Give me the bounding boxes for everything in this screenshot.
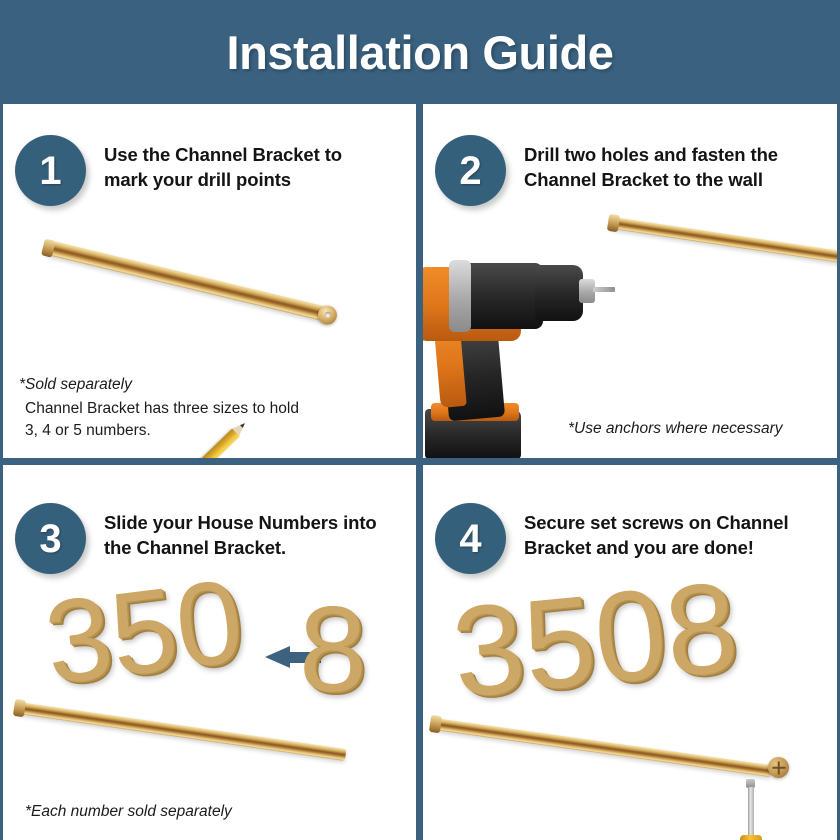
- drill-gearbox: [459, 263, 543, 329]
- house-number-group: 350: [40, 567, 249, 699]
- mounted-house-numbers: 3508: [448, 568, 743, 713]
- step-4-header: 4 Secure set screws on Channel Bracket a…: [435, 503, 835, 574]
- step-3-title: Slide your House Numbers into the Channe…: [104, 511, 377, 560]
- step-1-note-italic: *Sold separately: [19, 374, 132, 396]
- step-2-note-italic: *Use anchors where necessary: [568, 418, 783, 440]
- step-2-header: 2 Drill two holes and fasten the Channel…: [435, 135, 830, 206]
- step-3-note-italic: *Each number sold separately: [25, 801, 232, 823]
- step-1-note: Channel Bracket has three sizes to hold …: [25, 398, 299, 443]
- bracket-left-cap: [607, 214, 620, 232]
- screwdriver-handle: [740, 835, 762, 840]
- channel-bracket: [434, 718, 772, 777]
- screwdriver-shaft: [748, 787, 754, 837]
- sliding-house-number: 8: [299, 593, 367, 705]
- vertical-divider: [416, 104, 423, 840]
- bracket-left-cap: [429, 715, 442, 733]
- step-panel-3: 3 Slide your House Numbers into the Chan…: [3, 465, 416, 840]
- step-4-number: 4: [459, 519, 481, 559]
- step-1-title: Use the Channel Bracket to mark your dri…: [104, 143, 342, 192]
- step-3-badge: 3: [15, 503, 86, 574]
- step-panel-4: 4 Secure set screws on Channel Bracket a…: [423, 465, 837, 840]
- house-number-single: 8: [299, 593, 367, 705]
- step-panel-1: 1 Use the Channel Bracket to mark your d…: [3, 107, 416, 458]
- bracket-body: [18, 702, 346, 761]
- arrow-head: [265, 646, 290, 668]
- bracket-left-cap: [13, 699, 26, 717]
- drill-chuck: [535, 265, 583, 321]
- installation-guide-infographic: Installation Guide 1 Use the Channel Bra…: [0, 0, 840, 840]
- step-2-badge: 2: [435, 135, 506, 206]
- step-1-header: 1 Use the Channel Bracket to mark your d…: [15, 135, 405, 206]
- step-panel-2: 2 Drill two holes and fasten the Channel…: [423, 107, 837, 458]
- step-1-number: 1: [39, 151, 61, 191]
- bracket-left-cap: [41, 238, 56, 257]
- mounted-house-numbers: 350: [40, 567, 249, 699]
- bracket-right-endcap: [316, 303, 339, 326]
- bracket-body: [434, 718, 772, 777]
- step-2-title: Drill two holes and fasten the Channel B…: [524, 143, 778, 192]
- step-1-badge: 1: [15, 135, 86, 206]
- step-3-number: 3: [39, 519, 61, 559]
- channel-bracket: [18, 702, 346, 761]
- set-screw-icon: [768, 757, 789, 778]
- step-2-number: 2: [459, 151, 481, 191]
- drill-bit: [593, 287, 615, 292]
- house-number-group: 3508: [448, 568, 743, 713]
- channel-bracket: [46, 240, 330, 322]
- step-4-title: Secure set screws on Channel Bracket and…: [524, 511, 789, 560]
- page-title: Installation Guide: [226, 25, 613, 80]
- drill-clutch-collar: [449, 260, 471, 332]
- step-4-badge: 4: [435, 503, 506, 574]
- header-banner: Installation Guide: [0, 0, 840, 104]
- bracket-body: [46, 240, 330, 322]
